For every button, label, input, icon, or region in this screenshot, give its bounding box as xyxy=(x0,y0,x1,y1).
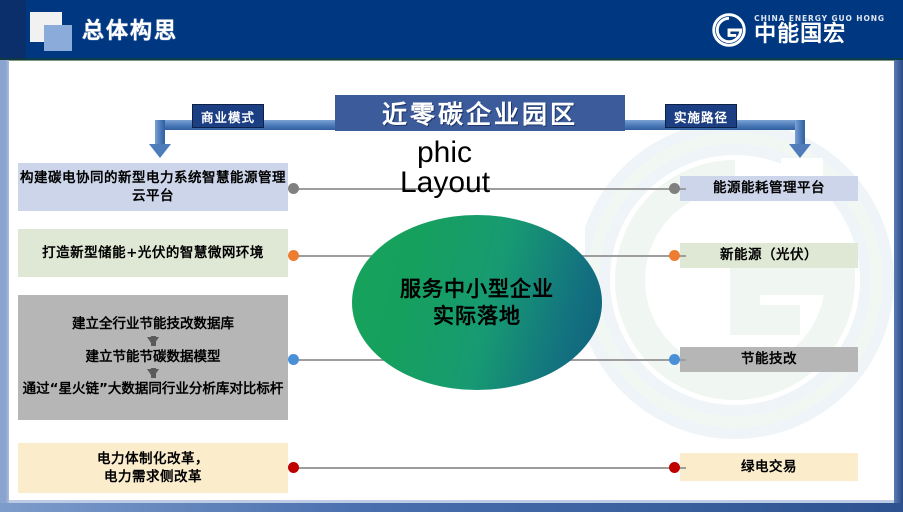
center-ellipse-text: 服务中小型企业 实际落地 xyxy=(400,276,554,330)
arrow-head-left-icon xyxy=(149,144,171,158)
center-line-1: 服务中小型企业 xyxy=(400,276,554,303)
flow-step-1: 建立全行业节能技改数据库 xyxy=(72,316,234,334)
flow-arrow-down-icon-2 xyxy=(147,369,159,378)
tag-right-label: 实施路径 xyxy=(674,107,728,126)
flow-step-2: 建立节能节碳数据模型 xyxy=(86,349,221,367)
right-box-2-text: 新能源（光伏） xyxy=(720,246,818,264)
connector-dot-right-4 xyxy=(669,462,680,473)
right-box-3-text: 节能技改 xyxy=(741,350,797,368)
connector-dot-right-2 xyxy=(669,250,680,261)
center-ellipse: 服务中小型企业 实际落地 xyxy=(352,215,602,390)
tag-business-model: 商业模式 xyxy=(192,104,264,128)
left-box-4-text: 电力体制化改革， 电力需求侧改革 xyxy=(97,450,209,486)
arrow-stem-right xyxy=(795,120,805,144)
header-accent-block xyxy=(0,0,26,60)
tag-left-label: 商业模式 xyxy=(201,107,255,126)
center-line-2: 实际落地 xyxy=(400,303,554,330)
left-box-4[interactable]: 电力体制化改革， 电力需求侧改革 xyxy=(18,443,288,493)
connector-dot-right-3 xyxy=(669,354,680,365)
connector-dot-left-3 xyxy=(288,354,299,365)
slide-header: 总体构思 CHINA ENERGY GUO HONG 中能国宏 xyxy=(0,0,903,60)
flow-step-3: 通过“星火链”大数据同行业分析库对比标杆 xyxy=(19,381,288,399)
company-logo: CHINA ENERGY GUO HONG 中能国宏 xyxy=(711,9,885,51)
right-box-3[interactable]: 节能技改 xyxy=(680,347,858,372)
page-title: 总体构思 xyxy=(82,13,178,45)
overlay-text-phic: phic xyxy=(417,136,472,170)
connector-dot-right-1 xyxy=(669,183,680,194)
tag-implementation-path: 实施路径 xyxy=(665,104,737,128)
arrow-head-right-icon xyxy=(789,144,811,158)
header-square-blue-icon xyxy=(44,25,72,51)
left-box-3-flow[interactable]: 建立全行业节能技改数据库 建立节能节碳数据模型 通过“星火链”大数据同行业分析库… xyxy=(18,295,288,420)
slide-canvas: 总体构思 CHINA ENERGY GUO HONG 中能国宏 近零碳企 xyxy=(0,0,903,512)
main-title-text: 近零碳企业园区 xyxy=(382,95,578,131)
flow-arrow-down-icon-1 xyxy=(147,337,159,346)
connector-dot-left-2 xyxy=(288,250,299,261)
arrow-stem-left xyxy=(155,120,165,144)
logo-mark-icon xyxy=(711,12,747,48)
left-box-2-text: 打造新型储能+光伏的智慧微网环境 xyxy=(42,244,264,262)
logo-chinese-name: 中能国宏 xyxy=(754,24,885,46)
frame-border-left xyxy=(0,60,9,512)
connector-dot-left-1 xyxy=(288,183,299,194)
left-box-1-text: 构建碳电协同的新型电力系统智慧能源管理云平台 xyxy=(18,169,288,205)
header-underline xyxy=(0,58,903,61)
left-box-1[interactable]: 构建碳电协同的新型电力系统智慧能源管理云平台 xyxy=(18,163,288,211)
connector-dot-left-4 xyxy=(288,462,299,473)
right-box-4-text: 绿电交易 xyxy=(741,458,797,476)
overlay-text-layout: Layout xyxy=(400,166,490,200)
right-box-4[interactable]: 绿电交易 xyxy=(680,453,858,481)
right-box-1[interactable]: 能源能耗管理平台 xyxy=(680,176,858,201)
left-box-2[interactable]: 打造新型储能+光伏的智慧微网环境 xyxy=(18,229,288,277)
background-watermark-logo xyxy=(585,120,903,460)
main-title-banner: 近零碳企业园区 xyxy=(335,95,625,131)
right-box-1-text: 能源能耗管理平台 xyxy=(713,179,825,197)
right-box-2[interactable]: 新能源（光伏） xyxy=(680,243,858,268)
frame-border-bottom xyxy=(0,503,903,512)
connector-line-4 xyxy=(292,467,686,469)
frame-border-right xyxy=(894,60,903,512)
